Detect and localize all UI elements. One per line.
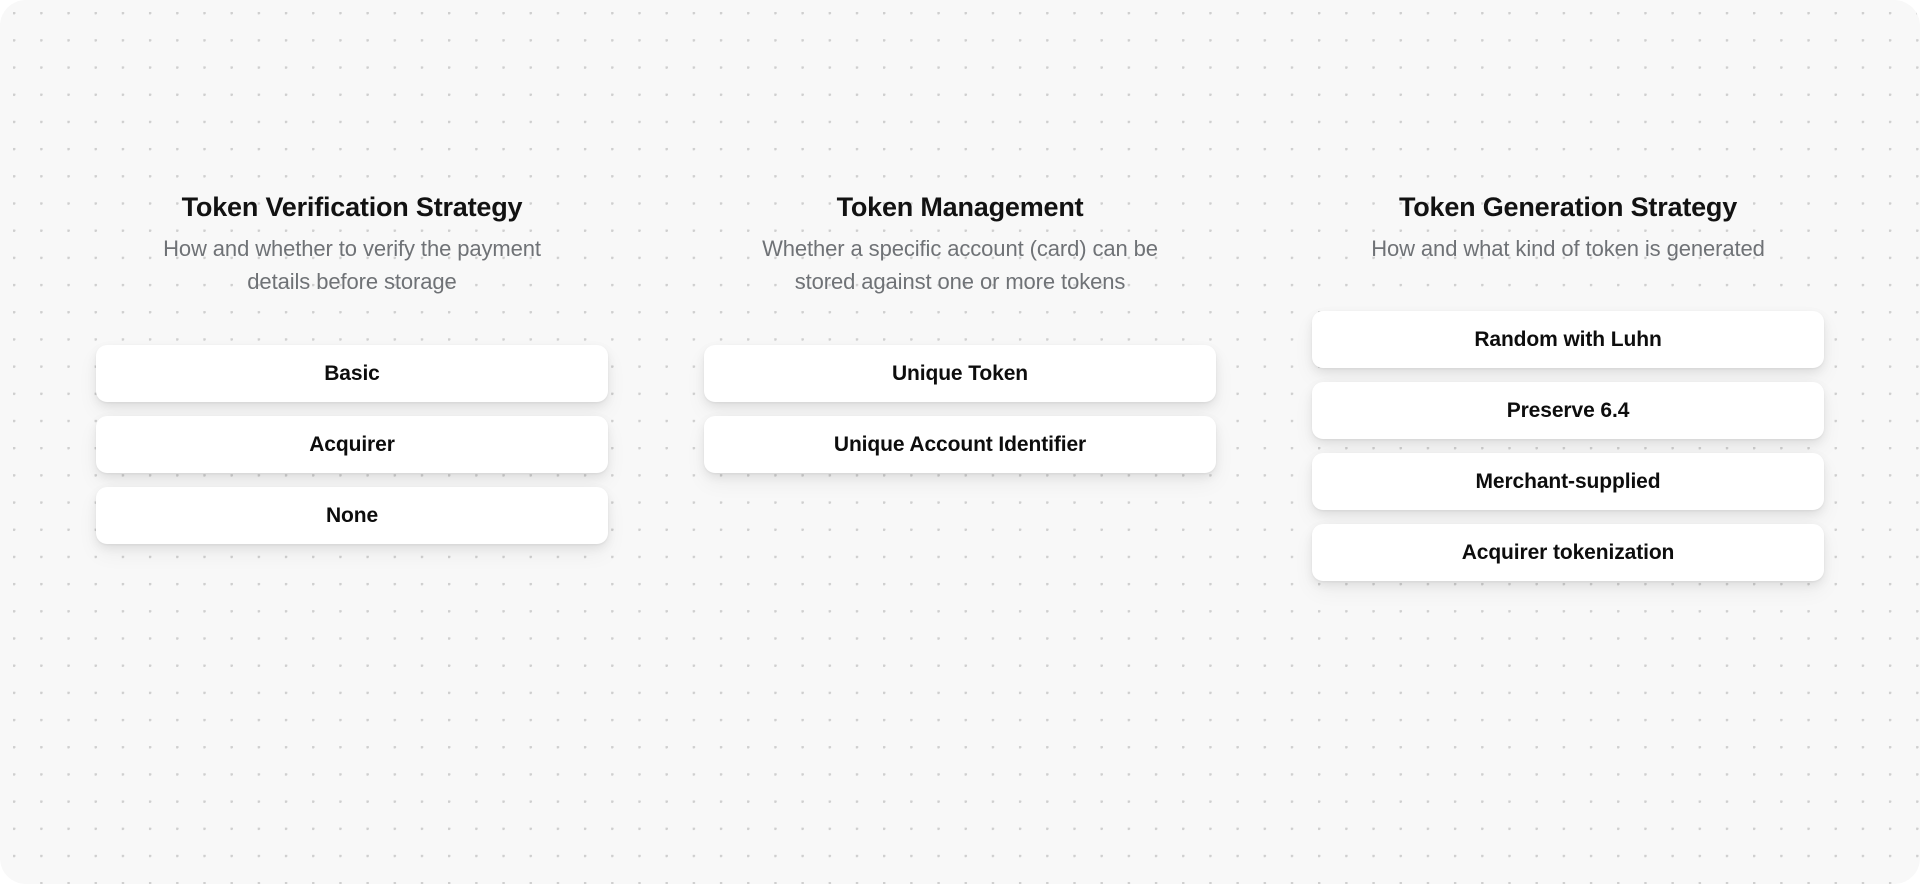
option-card-merchant-supplied[interactable]: Merchant-supplied xyxy=(1312,453,1824,510)
option-card-acquirer[interactable]: Acquirer xyxy=(96,416,608,473)
column-token-management: Token Management Whether a specific acco… xyxy=(704,192,1216,473)
option-card-preserve-6-4[interactable]: Preserve 6.4 xyxy=(1312,382,1824,439)
column-subtitle: How and whether to verify the payment de… xyxy=(142,232,562,299)
column-subtitle: Whether a specific account (card) can be… xyxy=(750,232,1170,299)
option-label: Acquirer xyxy=(309,434,395,455)
option-card-basic[interactable]: Basic xyxy=(96,345,608,402)
column-token-generation-strategy: Token Generation Strategy How and what k… xyxy=(1312,192,1824,581)
option-list: Unique Token Unique Account Identifier xyxy=(704,345,1216,473)
option-label: Unique Account Identifier xyxy=(834,434,1086,455)
option-label: Merchant-supplied xyxy=(1476,471,1661,492)
dotted-canvas: Token Verification Strategy How and whet… xyxy=(0,0,1920,884)
option-card-unique-account-identifier[interactable]: Unique Account Identifier xyxy=(704,416,1216,473)
option-label: Unique Token xyxy=(892,363,1028,384)
option-card-acquirer-tokenization[interactable]: Acquirer tokenization xyxy=(1312,524,1824,581)
column-title: Token Verification Strategy xyxy=(96,192,608,224)
column-subtitle: How and what kind of token is generated xyxy=(1371,232,1765,265)
option-label: Acquirer tokenization xyxy=(1462,542,1675,563)
option-list: Basic Acquirer None xyxy=(96,345,608,544)
option-label: None xyxy=(326,505,378,526)
option-card-random-with-luhn[interactable]: Random with Luhn xyxy=(1312,311,1824,368)
columns-container: Token Verification Strategy How and whet… xyxy=(0,0,1920,884)
column-title: Token Generation Strategy xyxy=(1312,192,1824,224)
option-card-none[interactable]: None xyxy=(96,487,608,544)
column-token-verification-strategy: Token Verification Strategy How and whet… xyxy=(96,192,608,544)
option-label: Random with Luhn xyxy=(1474,329,1661,350)
column-title: Token Management xyxy=(704,192,1216,224)
option-label: Preserve 6.4 xyxy=(1507,400,1630,421)
option-label: Basic xyxy=(324,363,380,384)
option-card-unique-token[interactable]: Unique Token xyxy=(704,345,1216,402)
option-list: Random with Luhn Preserve 6.4 Merchant-s… xyxy=(1312,311,1824,581)
